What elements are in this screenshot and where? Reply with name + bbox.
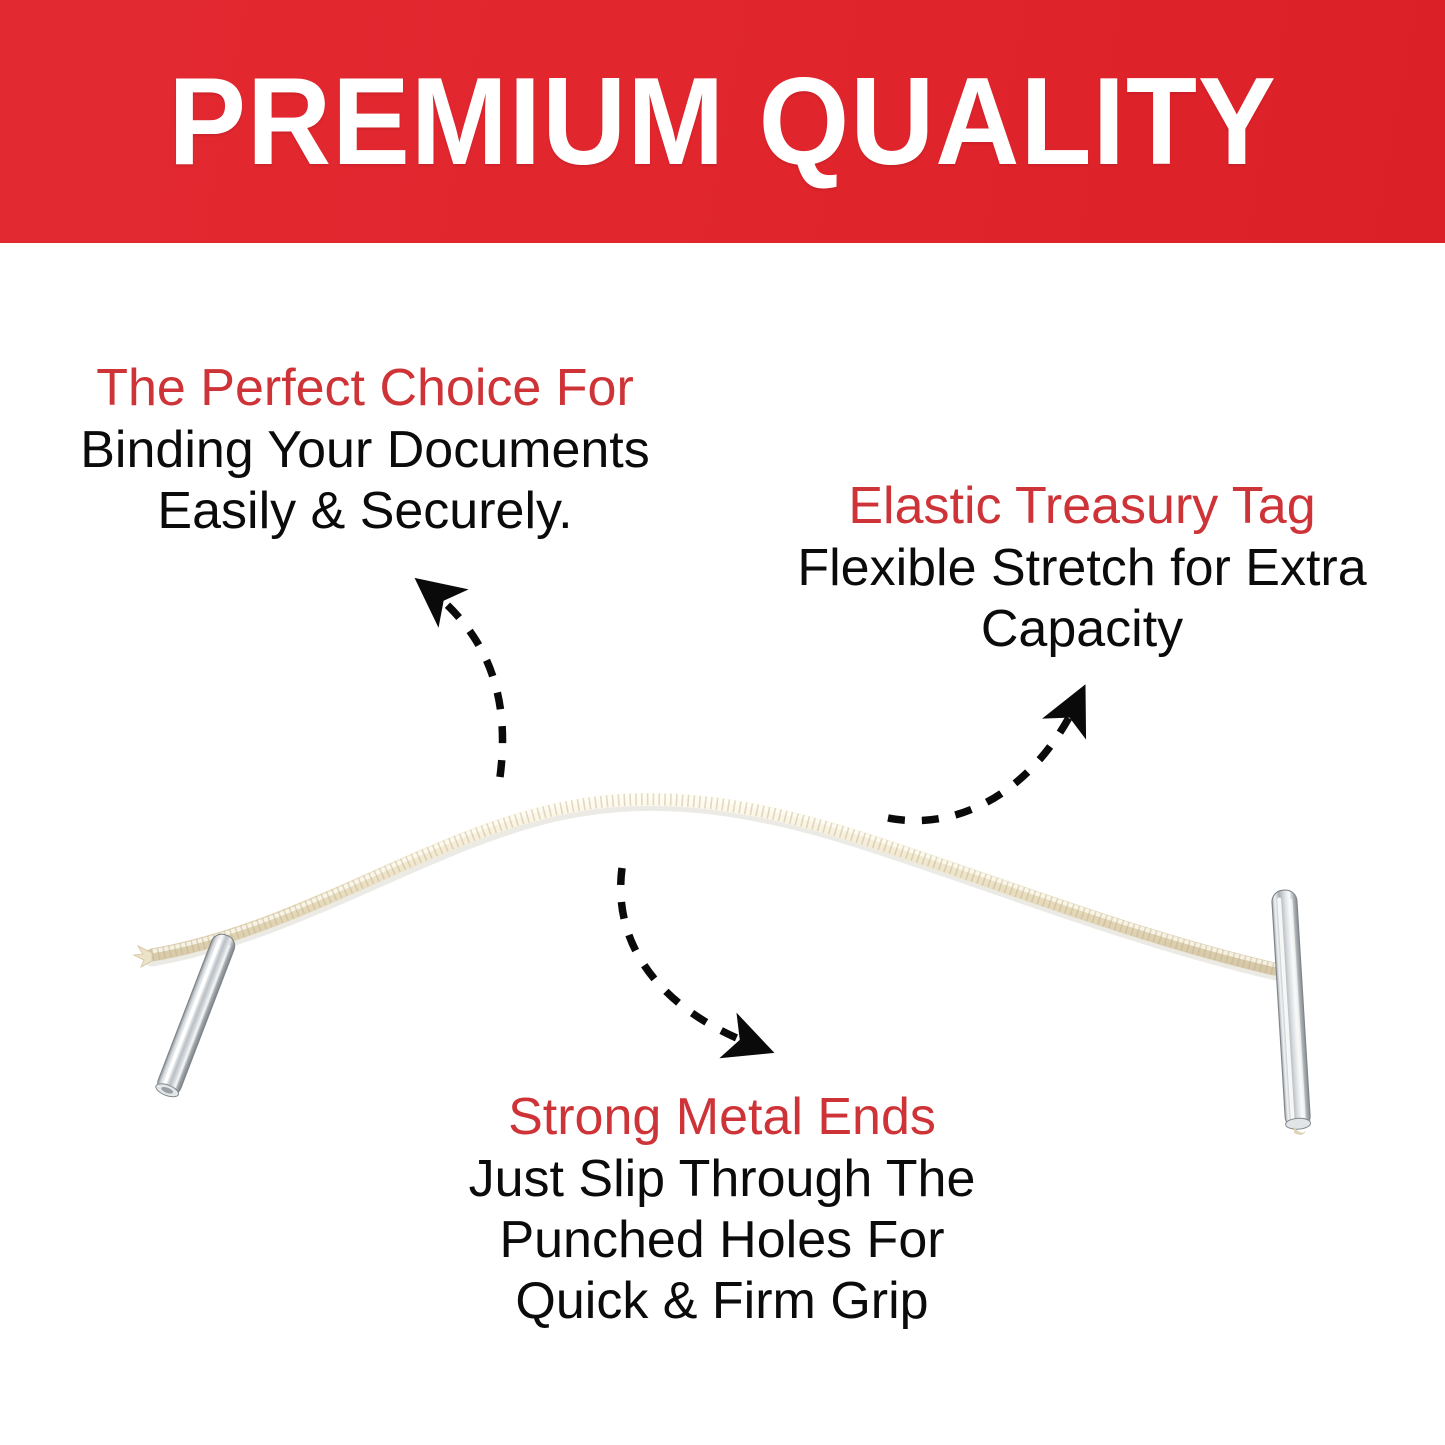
right-metal-end bbox=[1271, 889, 1311, 1135]
callout-body-line: Just Slip Through The bbox=[432, 1149, 1012, 1210]
callout-elastic-treasury-tag: Elastic Treasury Tag Flexible Stretch fo… bbox=[742, 476, 1422, 660]
callout-heading-elastic-treasury-tag: Elastic Treasury Tag bbox=[742, 476, 1422, 536]
arrow-to-perfect-choice bbox=[430, 590, 503, 777]
callout-heading-strong-metal-ends: Strong Metal Ends bbox=[432, 1087, 1012, 1147]
callout-heading-perfect-choice: The Perfect Choice For bbox=[22, 358, 708, 418]
page-title: PREMIUM QUALITY bbox=[43, 0, 1401, 243]
callout-body-line: Quick & Firm Grip bbox=[432, 1271, 1012, 1332]
callout-strong-metal-ends: Strong Metal Ends Just Slip Through The … bbox=[432, 1087, 1012, 1332]
callout-body-elastic-treasury-tag: Flexible Stretch for Extra Capacity bbox=[742, 538, 1422, 660]
callout-perfect-choice: The Perfect Choice For Binding Your Docu… bbox=[22, 358, 708, 542]
header-banner: PREMIUM QUALITY bbox=[0, 0, 1445, 243]
callout-body-strong-metal-ends: Just Slip Through The Punched Holes For … bbox=[432, 1149, 1012, 1331]
infographic-page: PREMIUM QUALITY bbox=[0, 0, 1445, 1445]
callout-body-perfect-choice: Binding Your Documents Easily & Securely… bbox=[22, 420, 708, 542]
arrow-to-elastic-treasury-tag bbox=[888, 702, 1077, 821]
elastic-cord bbox=[134, 795, 1276, 972]
callout-body-line: Easily & Securely. bbox=[22, 481, 708, 542]
callout-body-line: Flexible Stretch for Extra bbox=[742, 538, 1422, 599]
arrow-to-strong-metal-ends bbox=[621, 868, 756, 1046]
callout-body-line: Punched Holes For bbox=[432, 1210, 1012, 1271]
callout-body-line: Binding Your Documents bbox=[22, 420, 708, 481]
callout-body-line: Capacity bbox=[742, 599, 1422, 660]
